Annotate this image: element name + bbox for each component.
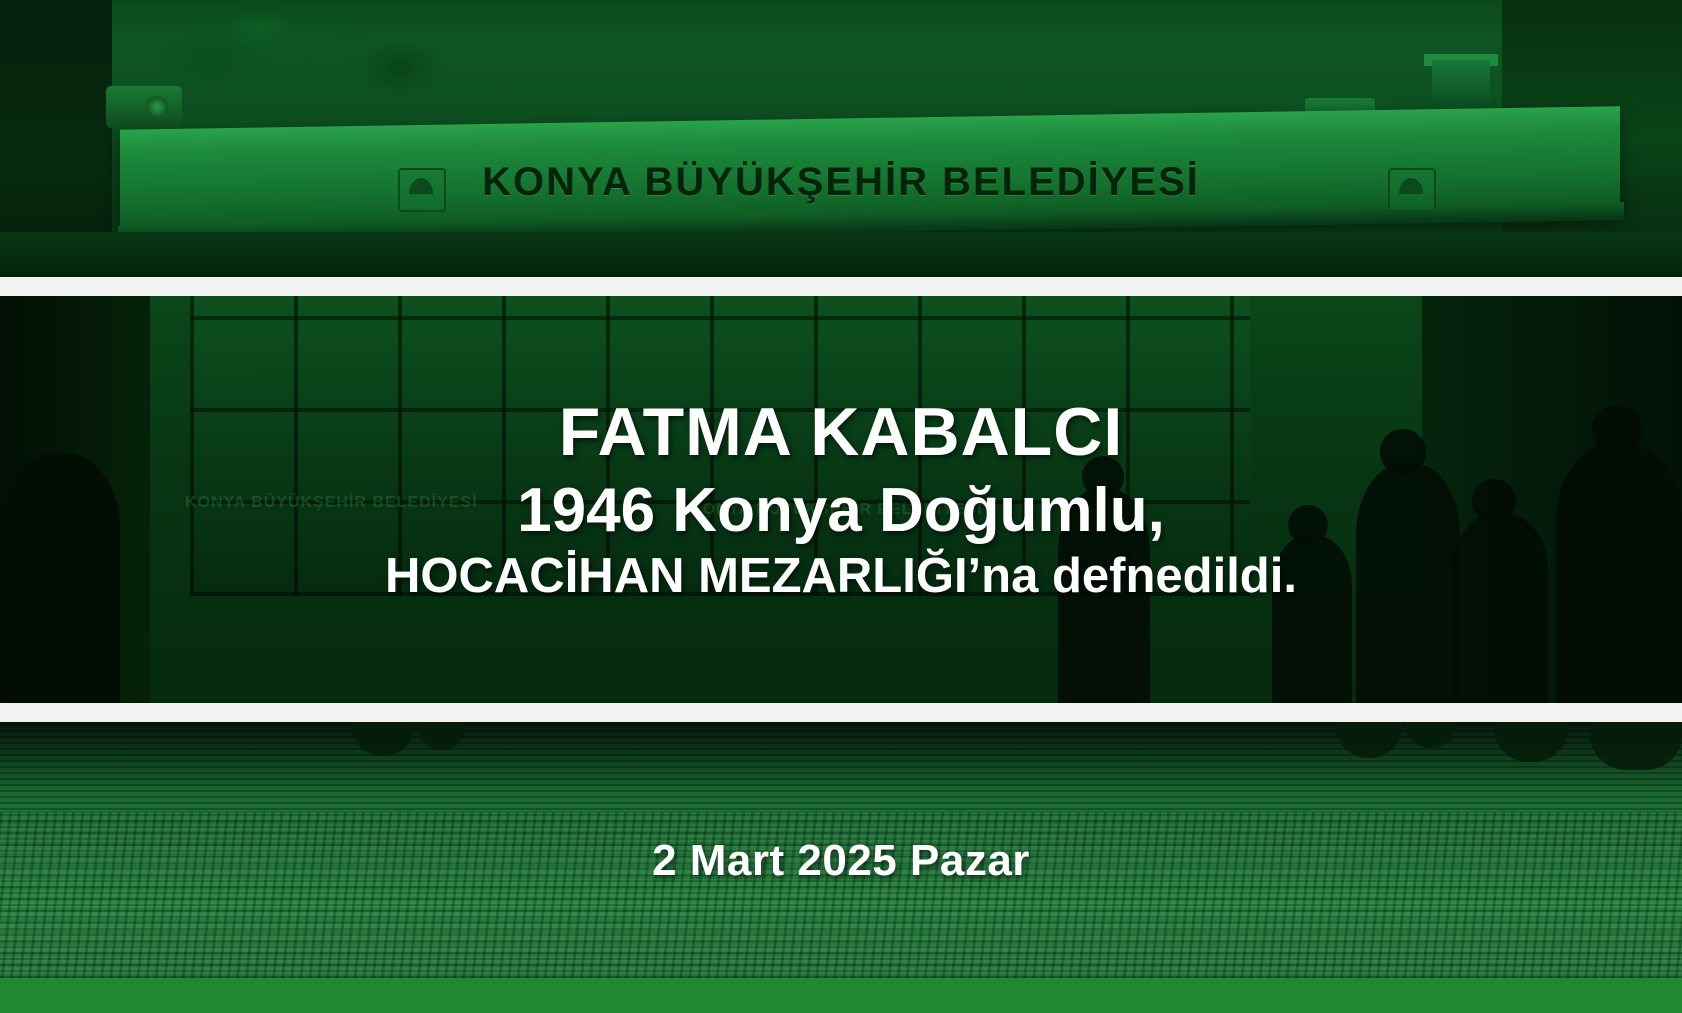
- person-silhouette: [1058, 488, 1150, 703]
- person-head-silhouette: [1288, 505, 1328, 545]
- chimney: [1432, 60, 1490, 112]
- ghost-sign-right: KONYA BÜYÜKŞEHİR BELEDİYESİ: [690, 501, 983, 519]
- middle-photo-section: KONYA BÜYÜKŞEHİR BELEDİYESİ KONYA BÜYÜKŞ…: [0, 296, 1682, 703]
- divider-bar-top: [0, 277, 1682, 296]
- announcement-date: 2 Mart 2025 Pazar: [0, 836, 1682, 886]
- obituary-poster: KONYA BÜYÜKŞEHİR BELEDİYESİ KONYA BÜYÜKŞ…: [0, 0, 1682, 1013]
- person-silhouette: [1556, 443, 1682, 703]
- person-head-silhouette: [1082, 456, 1124, 498]
- municipality-sign-text: KONYA BÜYÜKŞEHİR BELEDİYESİ: [0, 160, 1682, 205]
- top-banner-photo: KONYA BÜYÜKŞEHİR BELEDİYESİ: [0, 0, 1682, 278]
- speaker-box: [106, 86, 182, 128]
- person-silhouette: [1356, 463, 1460, 703]
- banner-lower-shadow: [0, 232, 1682, 278]
- person-silhouette: [0, 453, 120, 703]
- foliage-decoration: [150, 8, 450, 120]
- speaker-cone-icon: [146, 96, 168, 118]
- person-head-silhouette: [1380, 429, 1426, 475]
- divider-bar-bottom: [0, 703, 1682, 722]
- person-head-silhouette: [1472, 479, 1516, 523]
- person-silhouette: [1272, 535, 1352, 703]
- ghost-sign-left: KONYA BÜYÜKŞEHİR BELEDİYESİ: [185, 494, 478, 512]
- person-head-silhouette: [1592, 405, 1642, 455]
- bottom-color-strip: [0, 978, 1682, 1013]
- person-silhouette: [1452, 513, 1548, 703]
